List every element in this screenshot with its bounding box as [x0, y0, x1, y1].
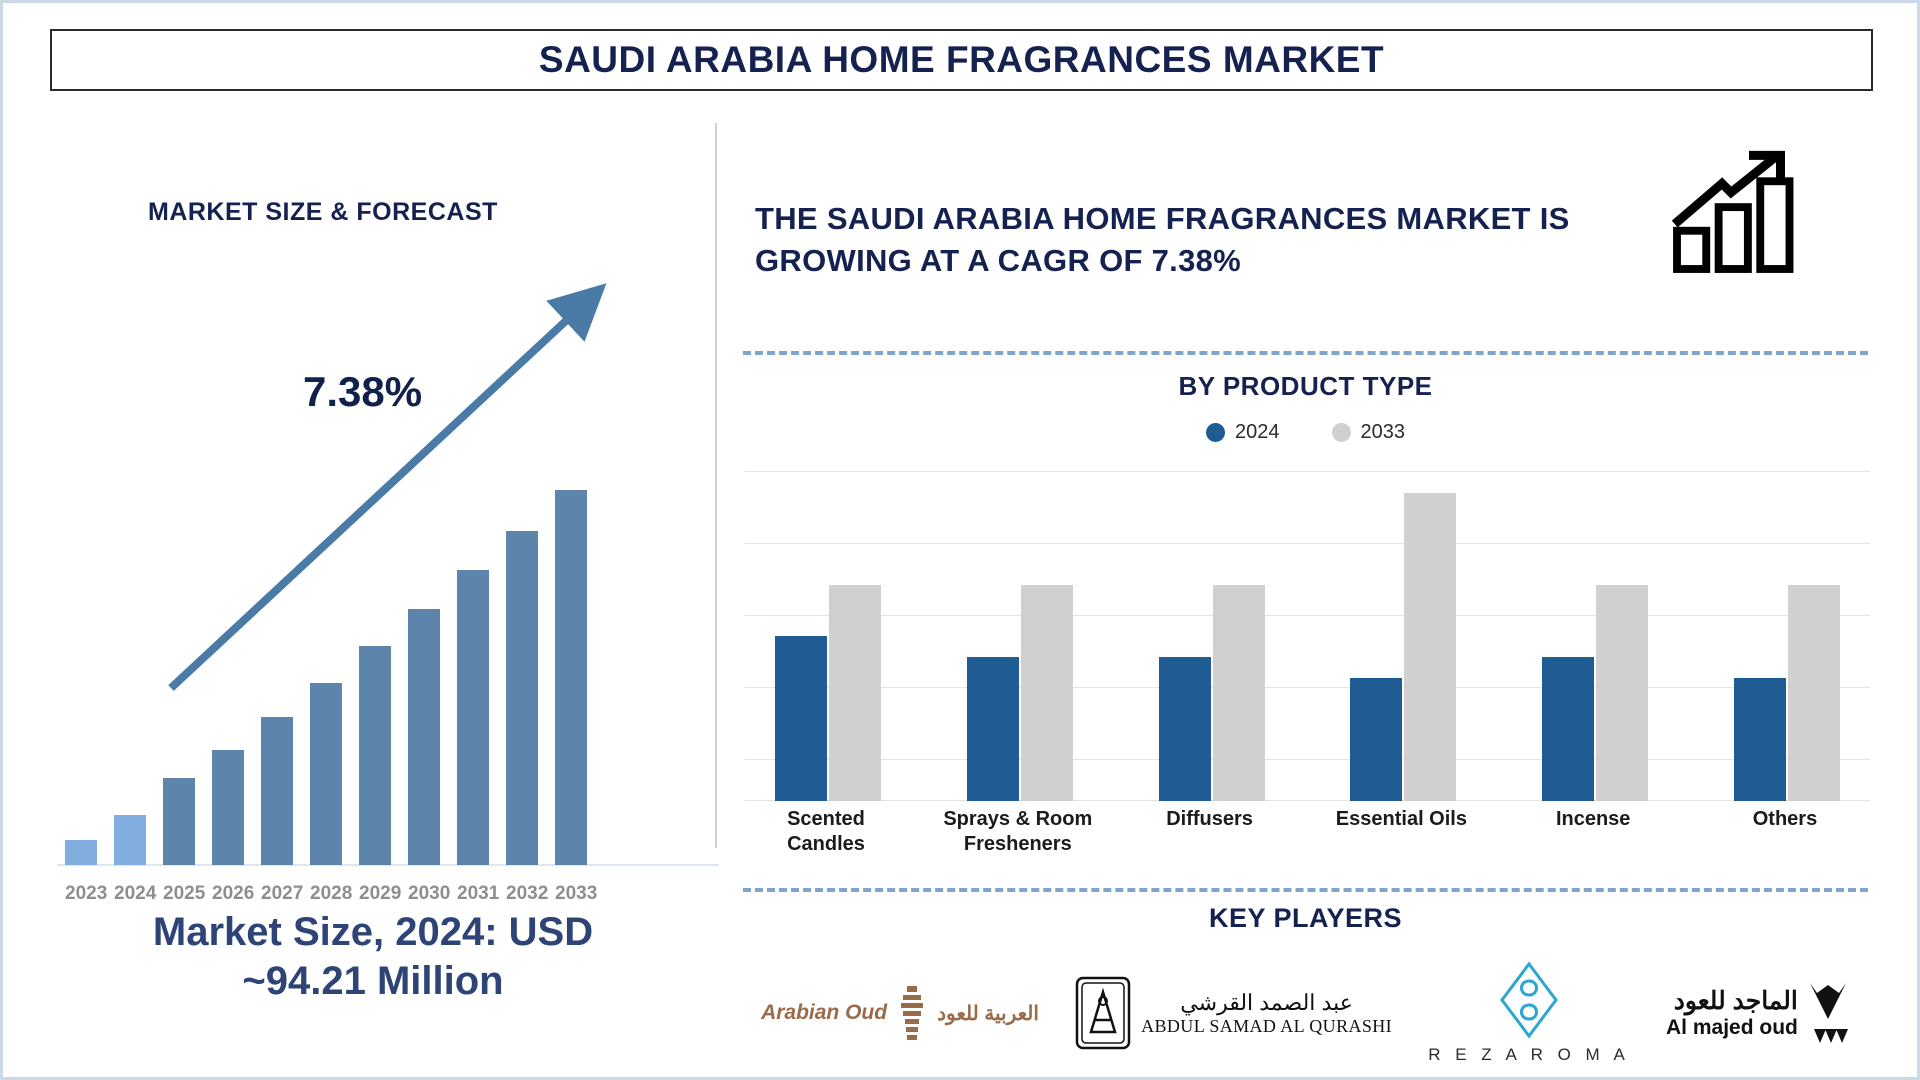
category-label: Diffusers [1135, 807, 1285, 857]
bar-2026 [212, 750, 244, 865]
legend-dot-icon [1332, 423, 1351, 442]
bar-2028 [310, 683, 342, 865]
bar-2033 [1788, 585, 1840, 801]
abdul-samad-al-qurashi-logo: عبد الصمد القرشي ABDUL SAMAD AL QURASHI [1075, 976, 1392, 1050]
key-players-heading: KEY PLAYERS [743, 903, 1868, 934]
by-product-type-heading: BY PRODUCT TYPE [743, 371, 1868, 402]
market-size-year-labels: 2023 2024 2025 2026 2027 2028 2029 2030 … [43, 883, 733, 905]
market-size-bar-chart: 2023 2024 2025 2026 2027 2028 2029 2030 … [43, 413, 733, 923]
bar-2024 [967, 657, 1019, 801]
year-label: 2023 [65, 883, 97, 905]
bar-2030 [408, 609, 440, 865]
year-label: 2026 [212, 883, 244, 905]
category-label: Scented Candles [751, 807, 901, 857]
bar-2024 [114, 815, 146, 865]
arabian-oud-tower-icon [895, 984, 929, 1042]
bar-2033 [1596, 585, 1648, 801]
bar-2032 [506, 531, 538, 865]
bar-2033 [1213, 585, 1265, 801]
legend-item-2033: 2033 [1332, 421, 1406, 444]
year-label: 2029 [359, 883, 391, 905]
legend-label: 2033 [1361, 421, 1406, 444]
page-title: SAUDI ARABIA HOME FRAGRANCES MARKET [539, 39, 1384, 81]
dashed-divider-top [743, 351, 1868, 355]
al-majed-crown-icon [1806, 979, 1850, 1047]
category-label: Essential Oils [1326, 807, 1476, 857]
bar-2024 [775, 636, 827, 801]
key-players-logos: Arabian Oud العربية للعود [743, 953, 1868, 1073]
title-banner: SAUDI ARABIA HOME FRAGRANCES MARKET [50, 29, 1873, 91]
bar-2024 [1159, 657, 1211, 801]
infographic-page: SAUDI ARABIA HOME FRAGRANCES MARKET MARK… [0, 0, 1920, 1080]
asq-english-label: ABDUL SAMAD AL QURASHI [1141, 1016, 1392, 1037]
year-label: 2027 [261, 883, 293, 905]
bar-2025 [163, 778, 195, 865]
bar-2023 [65, 840, 97, 865]
market-size-value: Market Size, 2024: USD ~94.21 Million [43, 908, 703, 1006]
growth-bar-chart-icon [1668, 143, 1803, 278]
bar-2033 [829, 585, 881, 801]
cagr-headline: THE SAUDI ARABIA HOME FRAGRANCES MARKET … [755, 198, 1655, 282]
legend-label: 2024 [1235, 421, 1280, 444]
by-product-type-bar-chart [745, 471, 1870, 801]
vertical-divider [715, 123, 717, 848]
product-chart-legend: 2024 2033 [743, 421, 1868, 444]
category-label: Incense [1518, 807, 1668, 857]
bar-2024 [1542, 657, 1594, 801]
bar-group-incense [1520, 585, 1670, 801]
right-panel: THE SAUDI ARABIA HOME FRAGRANCES MARKET … [743, 113, 1898, 1063]
arabian-oud-logo: Arabian Oud العربية للعود [761, 984, 1039, 1042]
bar-2033 [555, 490, 587, 865]
bar-group-diffusers [1137, 585, 1287, 801]
bar-group-scented-candles [753, 585, 903, 801]
category-label: Others [1710, 807, 1860, 857]
rezaroma-name-label: R E Z A R O M A [1428, 1045, 1630, 1065]
year-label: 2025 [163, 883, 195, 905]
market-size-forecast-heading: MARKET SIZE & FORECAST [148, 198, 498, 227]
year-label: 2028 [310, 883, 342, 905]
legend-dot-icon [1206, 423, 1225, 442]
bar-group-others [1712, 585, 1862, 801]
bar-2033 [1021, 585, 1073, 801]
cagr-annotation-label: 7.38% [303, 368, 422, 416]
rezaroma-logo: R E Z A R O M A [1428, 961, 1630, 1065]
product-bar-groups [745, 471, 1870, 801]
market-size-line-1: Market Size, 2024: USD [43, 908, 703, 957]
dashed-divider-bottom [743, 888, 1868, 892]
category-label: Sprays & Room Fresheners [943, 807, 1093, 857]
bar-group-sprays-room-fresheners [945, 585, 1095, 801]
bar-2027 [261, 717, 293, 865]
rezaroma-diamond-icon [1498, 961, 1560, 1039]
year-label: 2030 [408, 883, 440, 905]
bar-2024 [1350, 678, 1402, 801]
bar-group-essential-oils [1328, 493, 1478, 801]
market-size-forecast-panel: MARKET SIZE & FORECAST 7.38% [23, 113, 723, 1043]
year-label: 2033 [555, 883, 587, 905]
bar-2024 [1734, 678, 1786, 801]
bar-2033 [1404, 493, 1456, 801]
product-category-labels: Scented Candles Sprays & Room Fresheners… [743, 807, 1868, 857]
bar-2029 [359, 646, 391, 865]
al-majed-english-label: Al majed oud [1666, 1016, 1798, 1040]
year-label: 2032 [506, 883, 538, 905]
legend-item-2024: 2024 [1206, 421, 1280, 444]
year-label: 2024 [114, 883, 146, 905]
market-size-line-2: ~94.21 Million [43, 957, 703, 1006]
year-label: 2031 [457, 883, 489, 905]
al-majed-arabic-label: الماجد للعود [1674, 986, 1798, 1016]
arabian-oud-arabic-label: العربية للعود [937, 1001, 1039, 1026]
arabian-oud-english-label: Arabian Oud [761, 1001, 887, 1025]
asq-arabic-label: عبد الصمد القرشي [1180, 990, 1353, 1016]
market-size-bars [43, 425, 733, 865]
asq-monogram-icon [1075, 976, 1131, 1050]
al-majed-oud-logo: الماجد للعود Al majed oud [1666, 979, 1850, 1047]
bar-2031 [457, 570, 489, 865]
